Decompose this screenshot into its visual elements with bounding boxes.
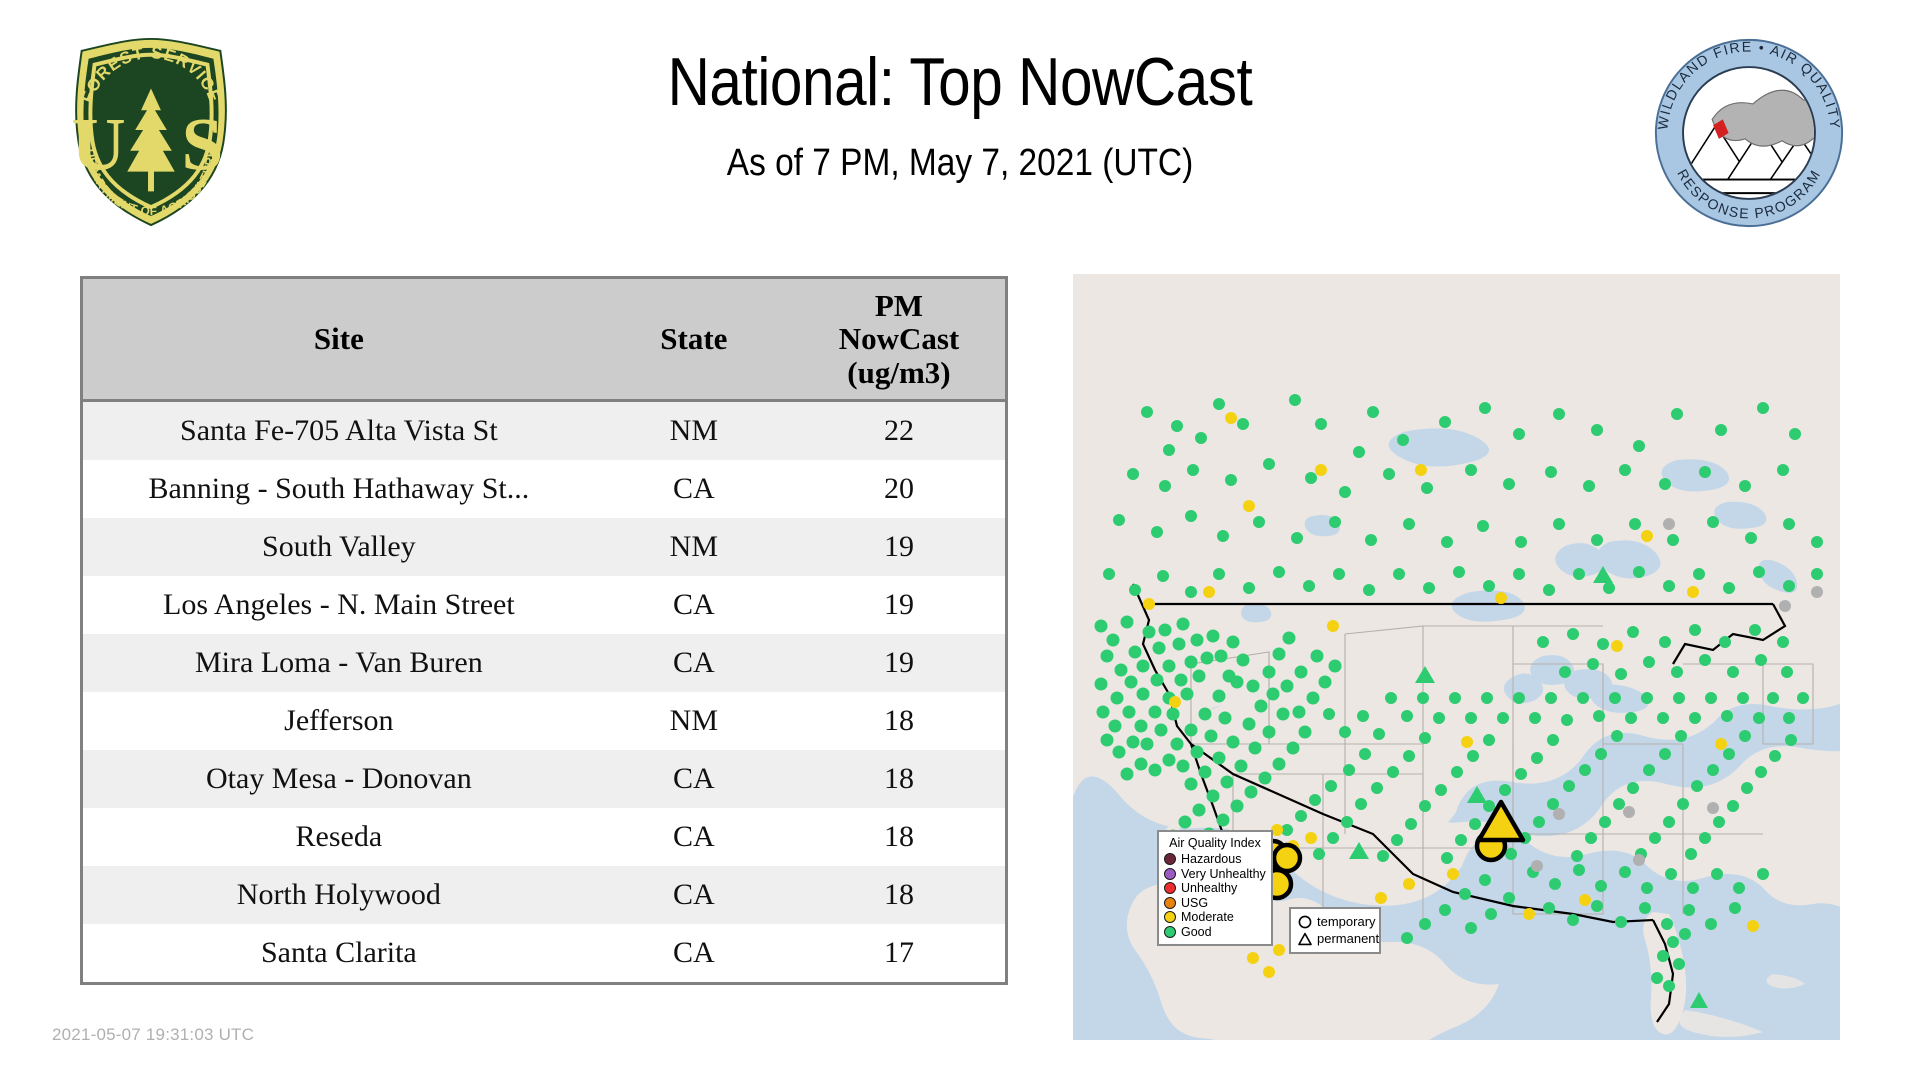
table-cell-site: Mira Loma - Van Buren: [83, 634, 595, 692]
table-row: Santa ClaritaCA17: [83, 924, 1005, 982]
aqi-legend-items: HazardousVery UnhealthyUnhealthyUSGModer…: [1164, 852, 1266, 939]
table-row: South ValleyNM19: [83, 518, 1005, 576]
aqi-legend-label: Very Unhealthy: [1181, 867, 1266, 881]
aqi-legend-swatch-icon: [1164, 897, 1176, 909]
symbol-legend-row-permanent: permanent: [1297, 930, 1374, 947]
table-cell-state: CA: [595, 576, 793, 634]
table-cell-state: CA: [595, 866, 793, 924]
symbol-legend-label-permanent: permanent: [1317, 931, 1379, 946]
aqi-legend-row: USG: [1164, 896, 1266, 911]
aqi-legend-label: Good: [1181, 925, 1212, 939]
column-header-pm-line1: PM: [793, 289, 1005, 322]
wfaqrp-logo: WILDLAND FIRE • AIR QUALITY RESPONSE PRO…: [1652, 36, 1846, 230]
table-cell-pm-nowcast: 18: [793, 866, 1005, 924]
forest-service-shield-icon: FOREST SERVICE U S DEPARTMENT OF AGRICUL…: [52, 33, 250, 231]
table-cell-site: Jefferson: [83, 692, 595, 750]
title-block: National: Top NowCast As of 7 PM, May 7,…: [300, 48, 1620, 185]
table-cell-pm-nowcast: 22: [793, 401, 1005, 461]
table-cell-pm-nowcast: 17: [793, 924, 1005, 982]
aqi-legend-label: Moderate: [1181, 910, 1234, 924]
page-header: FOREST SERVICE U S DEPARTMENT OF AGRICUL…: [0, 0, 1920, 262]
table-cell-site: Los Angeles - N. Main Street: [83, 576, 595, 634]
aqi-legend-swatch-icon: [1164, 926, 1176, 938]
aqi-legend-row: Good: [1164, 925, 1266, 940]
table-cell-pm-nowcast: 19: [793, 518, 1005, 576]
table-row: JeffersonNM18: [83, 692, 1005, 750]
table-cell-site: Otay Mesa - Donovan: [83, 750, 595, 808]
aqi-legend-swatch-icon: [1164, 853, 1176, 865]
table-cell-pm-nowcast: 19: [793, 576, 1005, 634]
page-subtitle: As of 7 PM, May 7, 2021 (UTC): [379, 142, 1541, 185]
table-row: Mira Loma - Van BurenCA19: [83, 634, 1005, 692]
aqi-legend-swatch-icon: [1164, 882, 1176, 894]
table-cell-site: South Valley: [83, 518, 595, 576]
aqi-legend-swatch-icon: [1164, 911, 1176, 923]
page-title: National: Top NowCast: [392, 48, 1527, 116]
table-cell-state: CA: [595, 808, 793, 866]
top-nowcast-table-container: Site State PM NowCast (ug/m3) Santa Fe-7…: [80, 276, 1008, 985]
table-cell-state: NM: [595, 692, 793, 750]
table-cell-state: CA: [595, 460, 793, 518]
footer-timestamp: 2021-05-07 19:31:03 UTC: [52, 1025, 254, 1045]
table-row: ResedaCA18: [83, 808, 1005, 866]
symbol-legend-label-temporary: temporary: [1317, 914, 1376, 929]
table-row: Otay Mesa - DonovanCA18: [83, 750, 1005, 808]
table-cell-site: Santa Clarita: [83, 924, 595, 982]
symbol-legend: temporary permanent: [1289, 907, 1381, 954]
table-cell-site: North Holywood: [83, 866, 595, 924]
aqi-legend-label: Hazardous: [1181, 852, 1241, 866]
table-cell-pm-nowcast: 18: [793, 750, 1005, 808]
aqi-legend-row: Unhealthy: [1164, 881, 1266, 896]
aqi-legend-label: Unhealthy: [1181, 881, 1237, 895]
highlight-marker-socal-4: [1274, 845, 1300, 871]
aqi-legend-title: Air Quality Index: [1164, 836, 1266, 850]
air-quality-map[interactable]: Air Quality Index HazardousVery Unhealth…: [1073, 274, 1840, 1040]
table-row: Los Angeles - N. Main StreetCA19: [83, 576, 1005, 634]
table-cell-state: NM: [595, 518, 793, 576]
column-header-pm-line2: NowCast: [793, 322, 1005, 355]
permanent-triangle-icon: [1297, 931, 1313, 947]
column-header-state: State: [595, 279, 793, 401]
table-cell-pm-nowcast: 20: [793, 460, 1005, 518]
table-row: North HolywoodCA18: [83, 866, 1005, 924]
aqi-legend-row: Hazardous: [1164, 852, 1266, 867]
table-cell-state: CA: [595, 924, 793, 982]
table-cell-site: Banning - South Hathaway St...: [83, 460, 595, 518]
aqi-legend-row: Moderate: [1164, 910, 1266, 925]
table-header-row: Site State PM NowCast (ug/m3): [83, 279, 1005, 401]
wildland-fire-air-quality-icon: WILDLAND FIRE • AIR QUALITY RESPONSE PRO…: [1652, 36, 1846, 230]
table-cell-state: NM: [595, 401, 793, 461]
table-cell-site: Santa Fe-705 Alta Vista St: [83, 401, 595, 461]
column-header-pm-nowcast: PM NowCast (ug/m3): [793, 279, 1005, 401]
table-cell-pm-nowcast: 18: [793, 808, 1005, 866]
aqi-legend-label: USG: [1181, 896, 1208, 910]
table-cell-state: CA: [595, 634, 793, 692]
table-cell-pm-nowcast: 19: [793, 634, 1005, 692]
table-row: Santa Fe-705 Alta Vista StNM22: [83, 401, 1005, 461]
top-nowcast-table: Site State PM NowCast (ug/m3) Santa Fe-7…: [83, 279, 1005, 982]
table-body: Santa Fe-705 Alta Vista StNM22Banning - …: [83, 401, 1005, 983]
column-header-pm-line3: (ug/m3): [793, 356, 1005, 389]
aqi-legend-swatch-icon: [1164, 868, 1176, 880]
table-cell-pm-nowcast: 18: [793, 692, 1005, 750]
usda-forest-service-shield-logo: FOREST SERVICE U S DEPARTMENT OF AGRICUL…: [52, 33, 250, 231]
aqi-legend-row: Very Unhealthy: [1164, 867, 1266, 882]
table-header: Site State PM NowCast (ug/m3): [83, 279, 1005, 401]
table-cell-state: CA: [595, 750, 793, 808]
symbol-legend-row-temporary: temporary: [1297, 913, 1374, 930]
temporary-circle-icon: [1297, 914, 1313, 930]
table-cell-site: Reseda: [83, 808, 595, 866]
aqi-legend: Air Quality Index HazardousVery Unhealth…: [1157, 830, 1273, 946]
table-row: Banning - South Hathaway St...CA20: [83, 460, 1005, 518]
column-header-site: Site: [83, 279, 595, 401]
